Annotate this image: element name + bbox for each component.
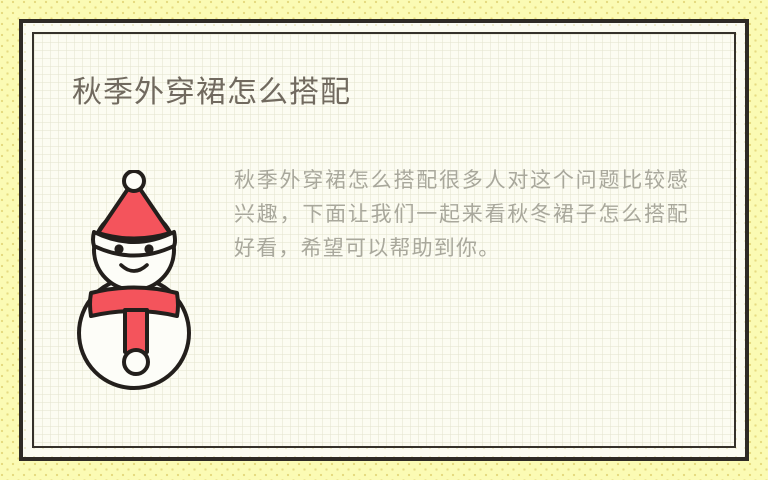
illustration-container: [34, 164, 234, 400]
outer-frame: 秋季外穿裙怎么搭配: [19, 19, 749, 461]
snowman-with-santa-hat-icon: [69, 170, 199, 400]
article-body-text: 秋季外穿裙怎么搭配很多人对这个问题比较感兴趣，下面让我们一起来看秋冬裙子怎么搭配…: [234, 164, 725, 266]
content-row: 秋季外穿裙怎么搭配很多人对这个问题比较感兴趣，下面让我们一起来看秋冬裙子怎么搭配…: [34, 164, 734, 400]
page-background: 秋季外穿裙怎么搭配: [0, 0, 768, 480]
page-title: 秋季外穿裙怎么搭配: [72, 74, 351, 112]
article-card: 秋季外穿裙怎么搭配: [32, 32, 736, 448]
